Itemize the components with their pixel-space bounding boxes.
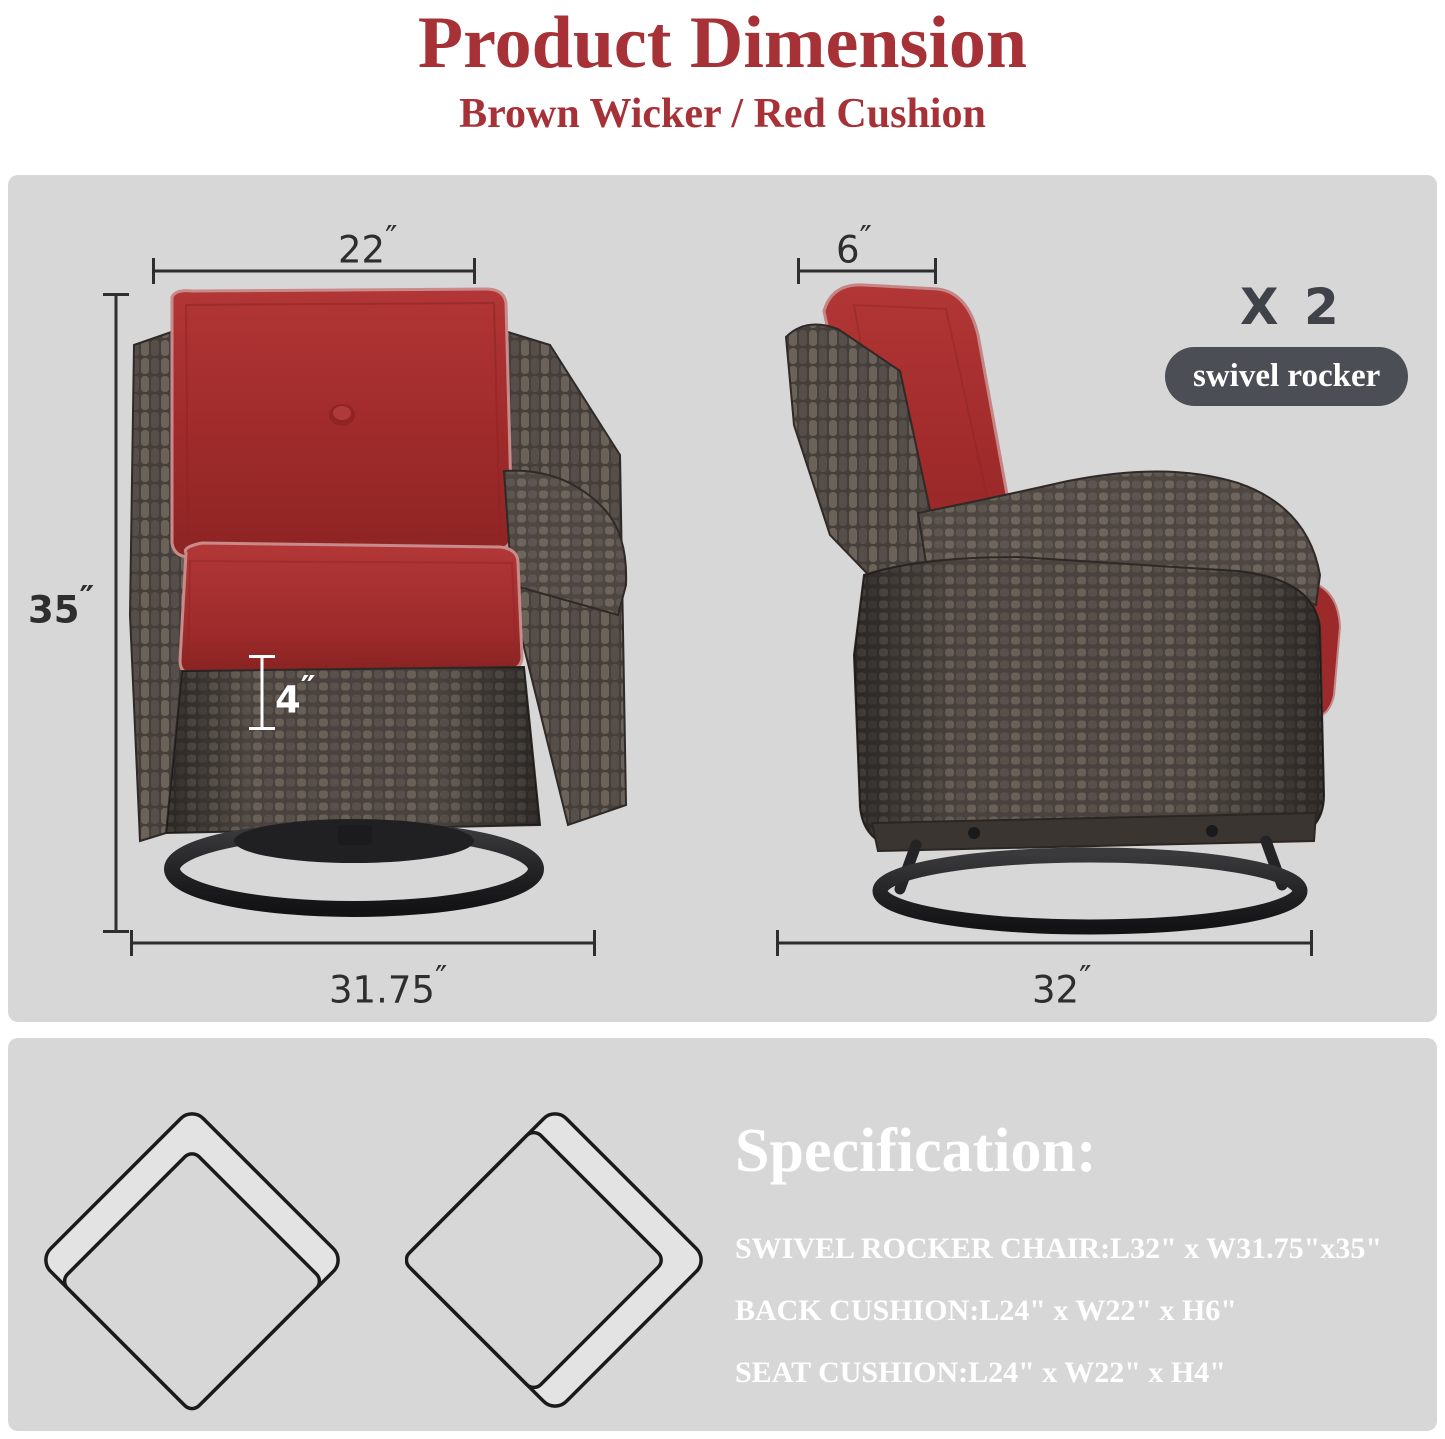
specification-line-back-cushion: BACK CUSHION:L24" x W22" x H6" <box>735 1294 1237 1328</box>
dim-cap-right <box>1310 930 1313 956</box>
quantity-label: X 2 <box>1240 278 1343 336</box>
dim-cap-left <box>130 930 133 956</box>
dim-cap-bottom <box>103 930 129 933</box>
dim-value: 6 <box>836 228 860 271</box>
header: Product Dimension Brown Wicker / Red Cus… <box>0 0 1445 140</box>
seat-cushion-outline <box>405 1100 705 1420</box>
dim-cap-right <box>473 258 476 284</box>
back-cushion-outline <box>42 1100 342 1420</box>
dim-line <box>152 270 476 273</box>
dim-side-depth <box>776 930 1313 956</box>
specification-heading: Specification: <box>735 1120 1097 1182</box>
dim-cap-left <box>797 258 800 284</box>
dim-value: 22 <box>338 228 385 271</box>
swivel-rocker-badge: swivel rocker <box>1165 347 1408 406</box>
dim-unit: ″ <box>860 218 872 257</box>
dim-front-bottom-width <box>130 930 596 956</box>
front-view-chair-illustration <box>120 285 640 945</box>
dim-unit: ″ <box>301 668 316 707</box>
dim-line <box>776 942 1313 945</box>
dim-unit: ″ <box>435 958 447 997</box>
dim-label-32: 32″ <box>1032 958 1091 1011</box>
page-title: Product Dimension <box>0 4 1445 82</box>
dim-line <box>130 942 596 945</box>
specification-line-seat-cushion: SEAT CUSHION:L24" x W22" x H4" <box>735 1356 1226 1390</box>
dim-cap-top <box>103 293 129 296</box>
dim-label-22: 22″ <box>338 218 397 271</box>
dim-unit: ″ <box>1079 958 1091 997</box>
page-subtitle: Brown Wicker / Red Cushion <box>0 88 1445 140</box>
dim-cap-right <box>593 930 596 956</box>
dim-value: 32 <box>1032 968 1079 1011</box>
dim-unit: ″ <box>385 218 397 257</box>
dim-unit: ″ <box>80 578 95 617</box>
dim-front-top-width <box>152 258 476 284</box>
specification-line-chair: SWIVEL ROCKER CHAIR:L32" x W31.75"x35" <box>735 1232 1382 1266</box>
dim-seat-thickness <box>251 655 273 730</box>
dim-value: 35 <box>28 588 80 631</box>
dim-line <box>115 293 118 933</box>
dim-label-6: 6″ <box>836 218 872 271</box>
dim-label-35: 35″ <box>28 578 94 631</box>
dim-cap-left <box>152 258 155 284</box>
dim-cap-left <box>776 930 779 956</box>
dim-cap-bottom <box>249 727 275 730</box>
dim-label-4: 4″ <box>275 668 316 721</box>
dim-cap-top <box>249 655 275 658</box>
dim-value: 4 <box>275 678 301 721</box>
dim-cap-right <box>934 258 937 284</box>
dim-label-3175: 31.75″ <box>329 958 447 1011</box>
dim-line <box>261 655 264 730</box>
dim-value: 31.75 <box>329 968 435 1011</box>
dim-front-height <box>103 293 129 933</box>
